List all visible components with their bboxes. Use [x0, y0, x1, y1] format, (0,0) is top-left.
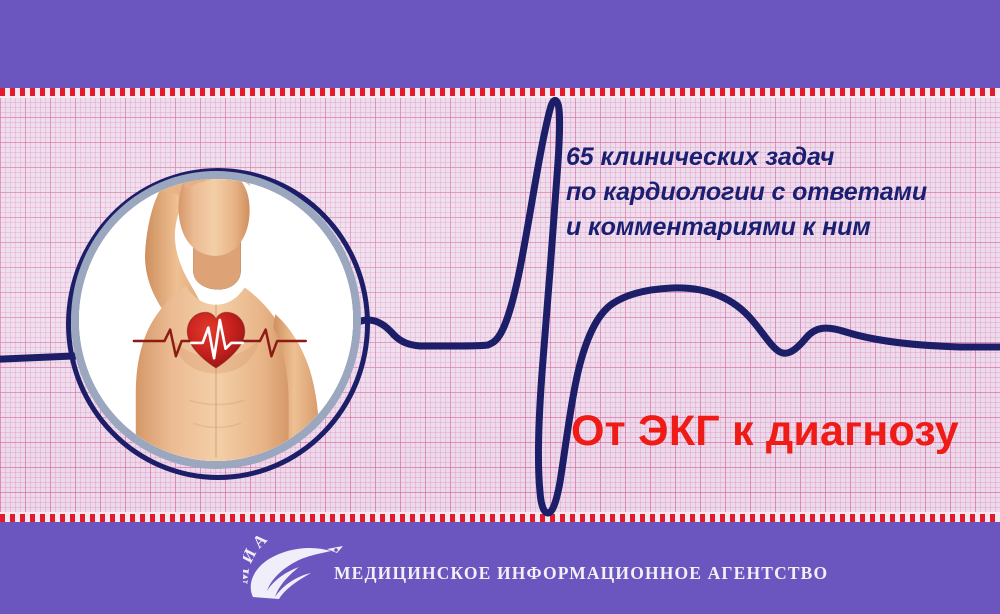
- medallion-illustration: [66, 168, 370, 480]
- publisher-name: МЕДИЦИНСКОЕ ИНФОРМАЦИОННОЕ АГЕНТСТВО: [334, 563, 828, 584]
- subtitle-line-3: и комментариями к ним: [566, 210, 986, 245]
- medallion-inner-ring: [71, 171, 361, 469]
- dotted-rule-top: [0, 88, 1000, 96]
- torso-with-heart-artwork: [71, 171, 361, 469]
- torso-photo: [71, 171, 361, 469]
- subtitle-block: 65 клинических задач по кардиологии с от…: [566, 140, 986, 245]
- subtitle-line-1: 65 клинических задач: [566, 140, 986, 175]
- tagline: От ЭКГ к диагнозу: [571, 406, 959, 456]
- book-cover: «ОБРАТИЛСЯ ПАЦИЕНТ…»: [0, 0, 1000, 614]
- dotted-rule-bottom: [0, 514, 1000, 522]
- subtitle-line-2: по кардиологии с ответами: [566, 175, 986, 210]
- top-purple-band: [0, 0, 1000, 92]
